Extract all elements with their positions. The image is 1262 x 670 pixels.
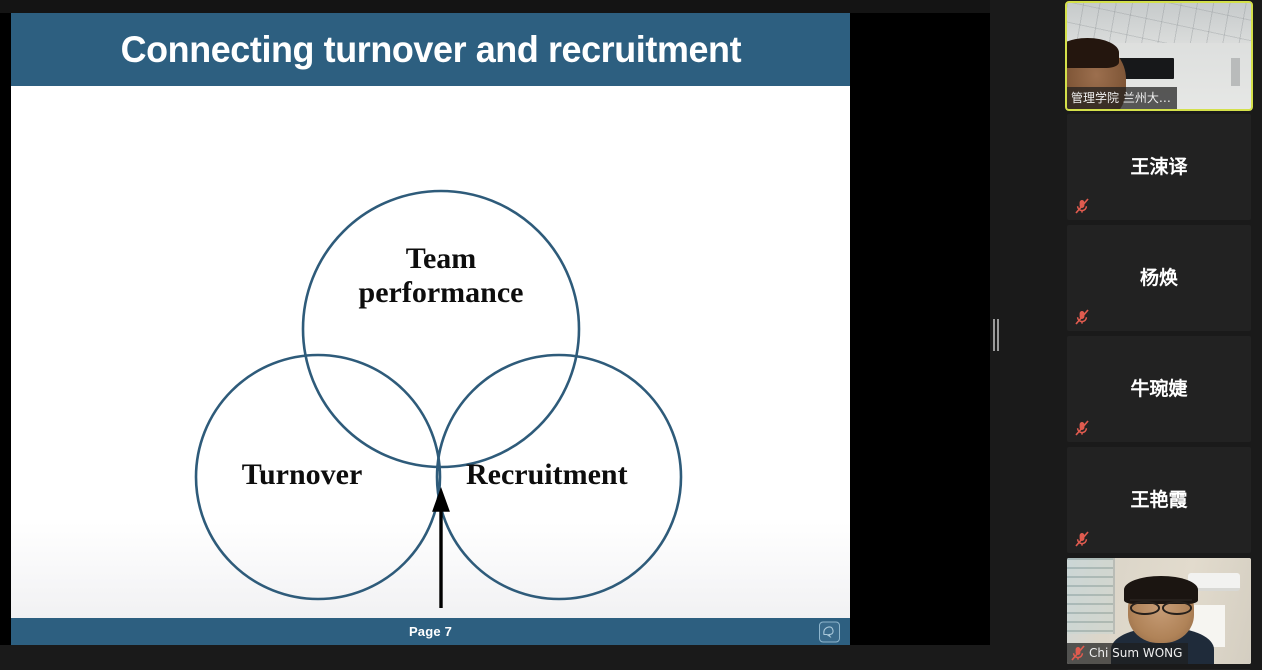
handle-grip-line xyxy=(997,319,999,351)
vacancy-arrow xyxy=(435,492,448,608)
participant-tile[interactable]: 王涑译 xyxy=(1067,114,1251,220)
shared-screen-stage[interactable]: Connecting turnover and recruitment xyxy=(0,0,990,645)
slide-notes-icon[interactable] xyxy=(819,621,840,642)
mic-muted-icon xyxy=(1075,309,1089,325)
venn-label-recruitment: Recruitment xyxy=(466,458,706,492)
zoom-meeting-window: Connecting turnover and recruitment xyxy=(0,0,1262,670)
participant-name: 牛琬婕 xyxy=(1067,374,1251,401)
video-ceiling xyxy=(1067,3,1251,43)
participant-name: 杨焕 xyxy=(1067,263,1251,290)
video-person-glasses xyxy=(1130,599,1193,611)
slide-body: Team performance Turnover Recruitment Va… xyxy=(11,86,850,618)
video-monitor xyxy=(1119,58,1174,79)
participant-tile[interactable]: 牛琬婕 xyxy=(1067,336,1251,442)
stage-top-strip xyxy=(0,0,990,13)
participant-name: Chi Sum WONG xyxy=(1089,646,1182,660)
handle-grip-line xyxy=(993,319,995,351)
venn-diagram: Team performance Turnover Recruitment xyxy=(11,86,850,618)
slide-footer: Page 7 xyxy=(11,618,850,645)
presentation-slide: Connecting turnover and recruitment xyxy=(11,13,850,645)
panel-drag-handle[interactable] xyxy=(991,318,1000,352)
participant-tile[interactable]: 管理学院 兰州大… xyxy=(1067,3,1251,109)
page-title: Connecting turnover and recruitment xyxy=(120,29,741,71)
venn-label-team-performance: Team performance xyxy=(341,242,541,310)
video-window xyxy=(1067,558,1115,634)
page-number-label: Page 7 xyxy=(409,624,452,639)
participant-name-bar: Chi Sum WONG xyxy=(1067,643,1188,664)
participant-filmstrip[interactable]: 管理学院 兰州大… 王涑译 杨焕 牛琬婕 xyxy=(1056,0,1262,670)
mic-muted-icon xyxy=(1071,645,1085,661)
video-person-hair xyxy=(1067,38,1119,68)
participant-name: 王艳霞 xyxy=(1067,485,1251,512)
participant-name: 王涑译 xyxy=(1067,152,1251,179)
video-doorframe xyxy=(1231,58,1240,86)
participant-tile[interactable]: 杨焕 xyxy=(1067,225,1251,331)
mic-muted-icon xyxy=(1075,420,1089,436)
participant-tile[interactable]: Chi Sum WONG xyxy=(1067,558,1251,664)
venn-circle-team-performance xyxy=(303,191,579,467)
participant-name: 管理学院 兰州大… xyxy=(1071,89,1171,106)
mic-muted-icon xyxy=(1075,531,1089,547)
participant-name-bar: 管理学院 兰州大… xyxy=(1067,87,1177,109)
mic-muted-icon xyxy=(1075,198,1089,214)
venn-label-turnover: Turnover xyxy=(209,458,395,492)
participant-tile[interactable]: 王艳霞 xyxy=(1067,447,1251,553)
slide-title-bar: Connecting turnover and recruitment xyxy=(11,13,850,86)
